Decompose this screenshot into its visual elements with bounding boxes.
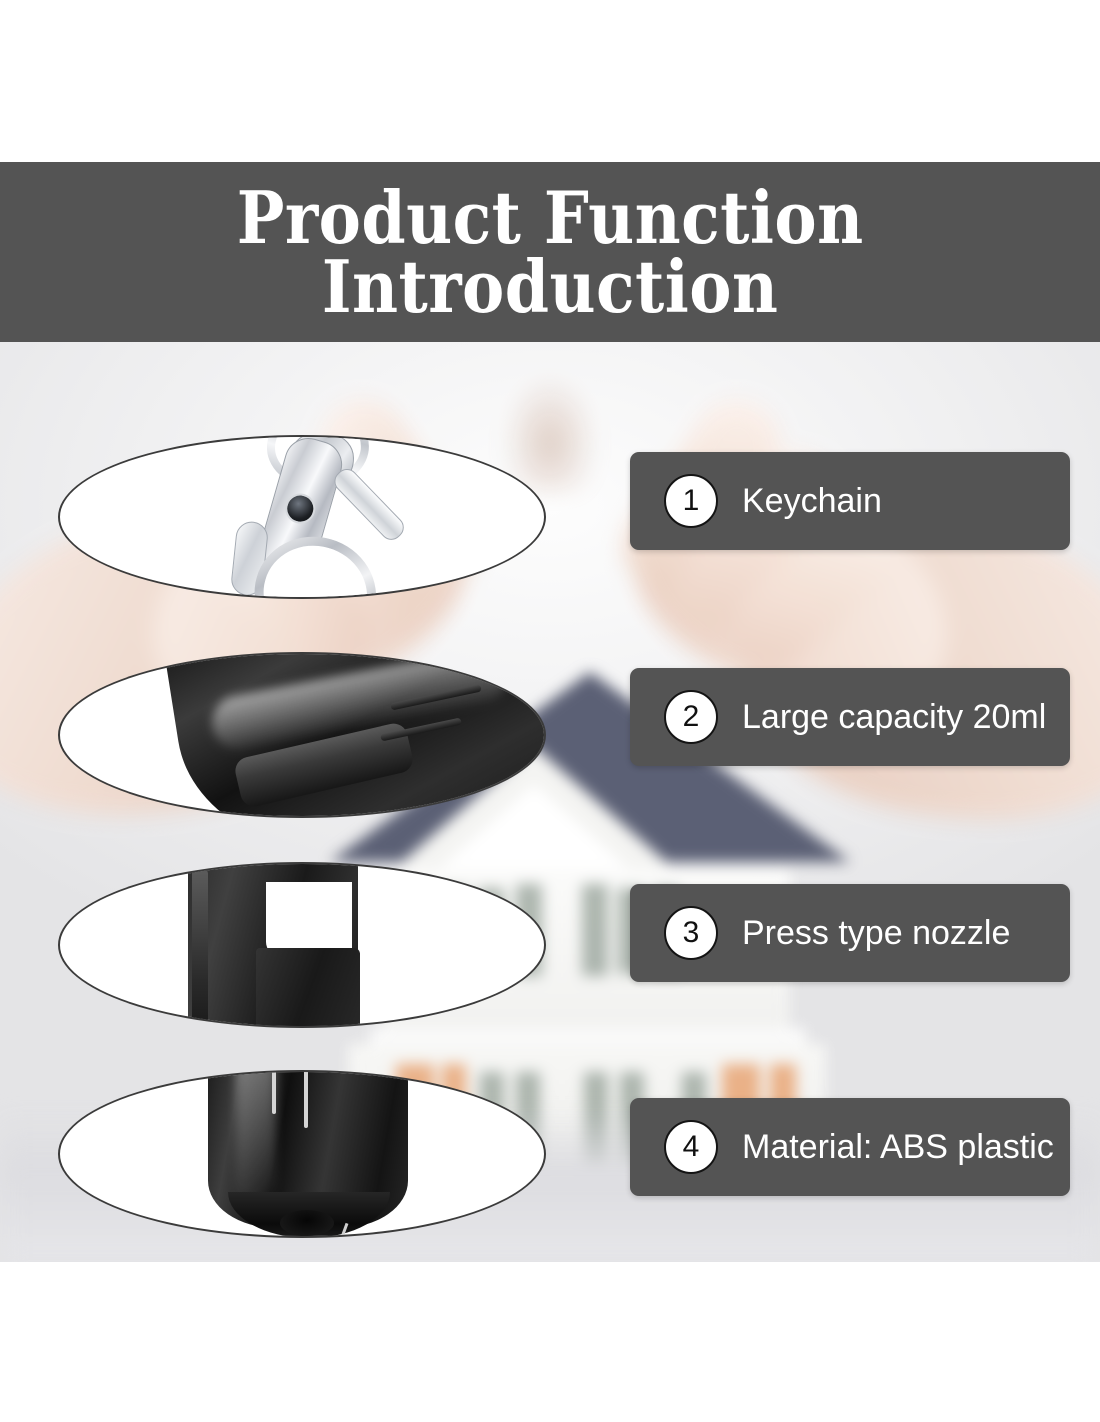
- clasp-arm: [330, 464, 408, 544]
- feature-card-1[interactable]: 1 Keychain: [630, 452, 1070, 550]
- title-banner: Product Function Introduction: [0, 162, 1100, 342]
- feature-number-badge: 4: [664, 1120, 718, 1174]
- clasp-assembly: [186, 435, 465, 599]
- bottom-white-band: [0, 1262, 1100, 1422]
- plastic-base-highlight: [236, 1070, 276, 1204]
- feature-label: Large capacity 20ml: [742, 698, 1046, 737]
- feature-card-4[interactable]: 4 Material: ABS plastic: [630, 1098, 1070, 1196]
- feature-number-badge: 1: [664, 474, 718, 528]
- plastic-base-opening: [280, 1210, 334, 1236]
- feature-card-3[interactable]: 3 Press type nozzle: [630, 884, 1070, 982]
- feature-label: Material: ABS plastic: [742, 1128, 1054, 1167]
- feature-card-2[interactable]: 2 Large capacity 20ml: [630, 668, 1070, 766]
- nozzle-edge-highlight: [192, 868, 208, 1028]
- page-title: Product Function Introduction: [237, 183, 864, 321]
- plastic-base-slit: [304, 1070, 308, 1128]
- bottle-body-icon: [60, 654, 544, 816]
- nozzle-icon: [60, 864, 544, 1026]
- callout-oval-capacity: [58, 652, 546, 818]
- plastic-base-slit: [272, 1070, 276, 1114]
- feature-number-badge: 2: [664, 690, 718, 744]
- feature-label: Keychain: [742, 482, 882, 521]
- plastic-base-icon: [60, 1072, 544, 1236]
- callout-oval-material: [58, 1070, 546, 1238]
- feature-label: Press type nozzle: [742, 914, 1010, 953]
- keychain-clasp-icon: [60, 437, 544, 597]
- feature-number-badge: 3: [664, 906, 718, 960]
- callout-oval-keychain: [58, 435, 546, 599]
- nozzle-notch: [266, 882, 352, 956]
- nozzle-press-lip: [256, 948, 360, 1028]
- top-white-band: [0, 0, 1100, 162]
- callout-oval-nozzle: [58, 862, 546, 1028]
- product-infographic: Product Function Introduction: [0, 0, 1100, 1422]
